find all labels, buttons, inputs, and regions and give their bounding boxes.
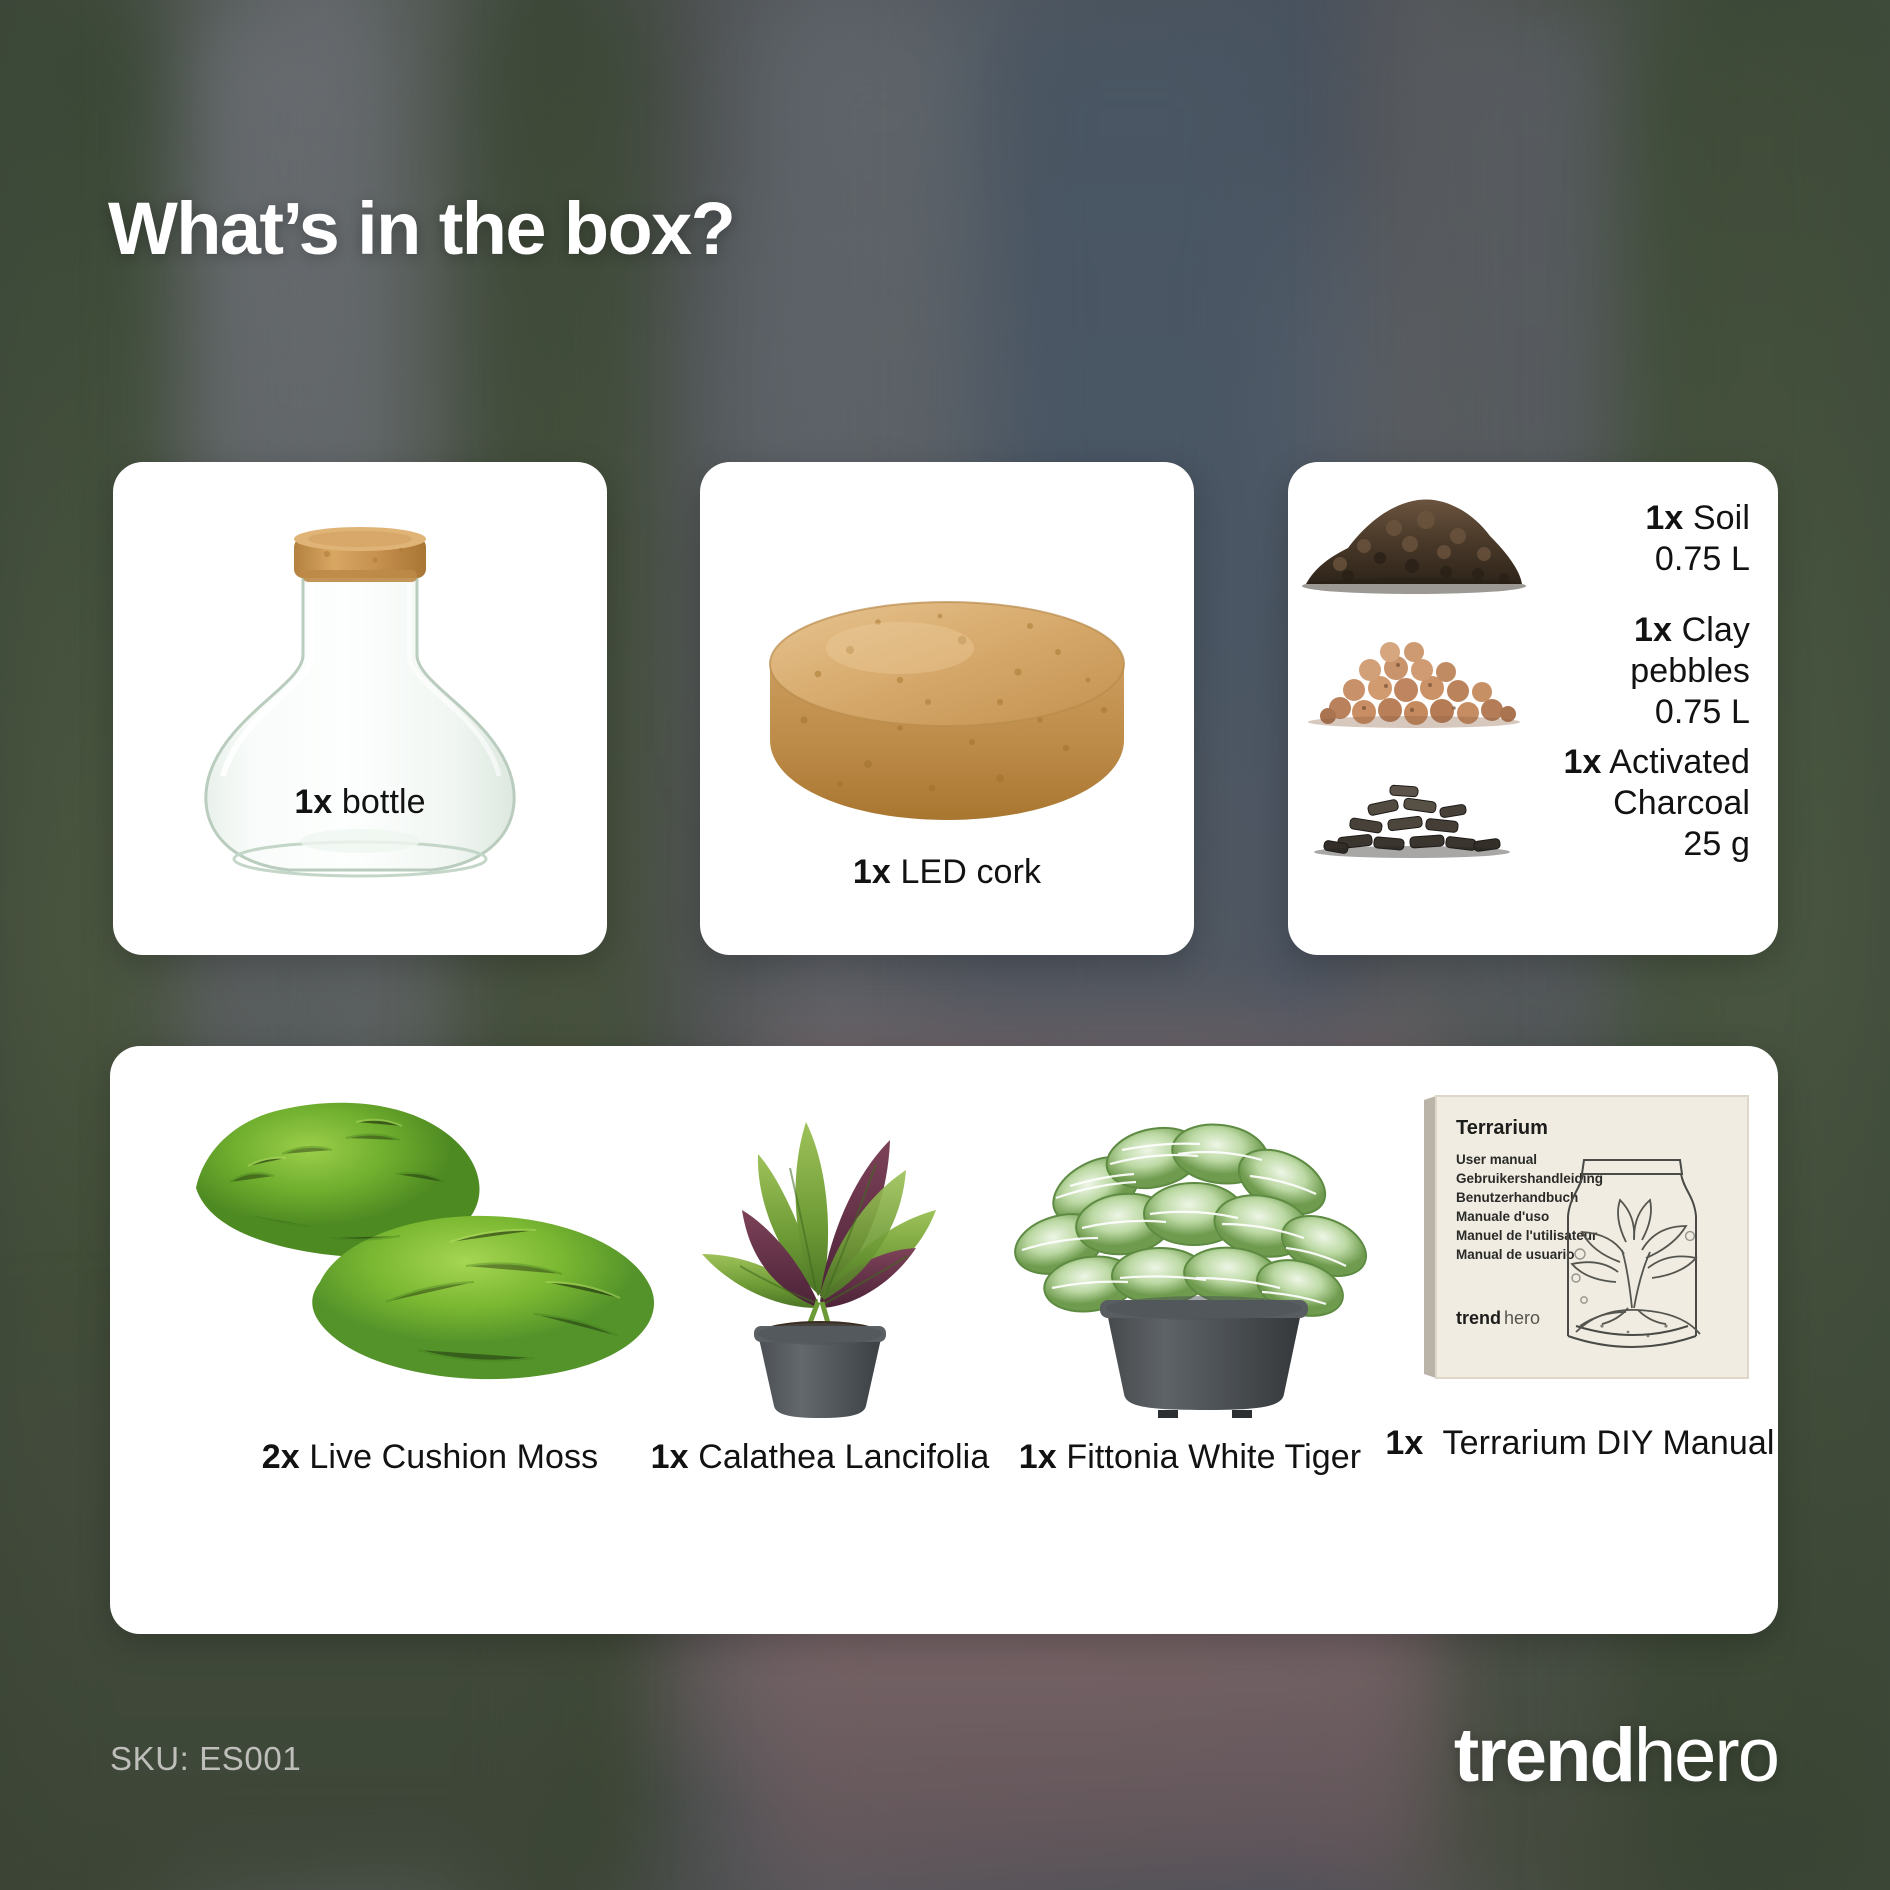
bottle-qty: 1x bbox=[294, 783, 332, 821]
svg-text:hero: hero bbox=[1504, 1308, 1540, 1328]
svg-text:trend: trend bbox=[1456, 1308, 1501, 1328]
bottle-label: bottle bbox=[342, 783, 426, 821]
moss-qty: 2x bbox=[262, 1438, 300, 1476]
soil-pile-image bbox=[1294, 480, 1529, 598]
terrarium-manual-image: Terrarium User manual Gebruikershandleid… bbox=[1380, 1086, 1780, 1386]
fittonia-qty: 1x bbox=[1019, 1438, 1057, 1476]
clay-pebbles-caption: 1x Clay pebbles 0.75 L bbox=[1529, 610, 1778, 732]
page-title: What’s in the box? bbox=[108, 186, 734, 271]
bottle-caption: 1x bottle bbox=[113, 782, 607, 823]
cork-caption: 1x LED cork bbox=[700, 852, 1194, 893]
fittonia-name: Fittonia White Tiger bbox=[1066, 1438, 1361, 1476]
manual-name: Terrarium DIY Manual bbox=[1443, 1424, 1775, 1462]
brand-logo-bold: trend bbox=[1454, 1713, 1634, 1798]
calathea-qty: 1x bbox=[651, 1438, 689, 1476]
media-row-charcoal: 1x Activated Charcoal 25 g bbox=[1288, 742, 1778, 864]
charcoal-name: Activated Charcoal bbox=[1609, 743, 1750, 822]
charcoal-caption: 1x Activated Charcoal 25 g bbox=[1529, 742, 1778, 864]
svg-text:Manuel de l'utilisateur: Manuel de l'utilisateur bbox=[1456, 1228, 1598, 1243]
cork-label: LED cork bbox=[900, 853, 1041, 891]
soil-caption: 1x Soil 0.75 L bbox=[1529, 498, 1778, 580]
plant-cell-manual: Terrarium User manual Gebruikershandleid… bbox=[1380, 1046, 1780, 1634]
card-bottle: 1x bottle bbox=[113, 462, 607, 955]
manual-caption: 1x Terrarium DIY Manual bbox=[1380, 1422, 1780, 1465]
soil-name: Soil bbox=[1693, 499, 1750, 537]
card-led-cork: 1x LED cork bbox=[700, 462, 1194, 955]
sku-label: SKU: ES001 bbox=[110, 1740, 301, 1778]
cork-lid-image bbox=[700, 552, 1194, 852]
moss-name: Live Cushion Moss bbox=[309, 1438, 598, 1476]
media-row-soil: 1x Soil 0.75 L bbox=[1288, 480, 1778, 598]
soil-amount: 0.75 L bbox=[1529, 539, 1750, 580]
svg-text:Manual de usuario: Manual de usuario bbox=[1456, 1247, 1575, 1262]
clay-pebbles-image bbox=[1294, 612, 1529, 730]
cork-qty: 1x bbox=[853, 853, 891, 891]
brand-logo: trendhero bbox=[1454, 1712, 1778, 1799]
pebbles-amount: 0.75 L bbox=[1529, 692, 1750, 733]
activated-charcoal-image bbox=[1294, 744, 1529, 862]
svg-text:Manuale d'uso: Manuale d'uso bbox=[1456, 1209, 1549, 1224]
pebbles-qty: 1x bbox=[1634, 611, 1672, 649]
card-plants-and-manual: 2x Live Cushion Moss bbox=[110, 1046, 1778, 1634]
svg-text:Terrarium: Terrarium bbox=[1456, 1117, 1548, 1139]
charcoal-qty: 1x bbox=[1564, 743, 1602, 781]
svg-text:Benutzerhandbuch: Benutzerhandbuch bbox=[1456, 1190, 1578, 1205]
media-row-clay-pebbles: 1x Clay pebbles 0.75 L bbox=[1288, 610, 1778, 732]
soil-qty: 1x bbox=[1645, 499, 1683, 537]
charcoal-amount: 25 g bbox=[1529, 824, 1750, 865]
brand-logo-light: hero bbox=[1634, 1713, 1778, 1798]
svg-text:User manual: User manual bbox=[1456, 1152, 1537, 1167]
manual-qty: 1x bbox=[1385, 1424, 1423, 1462]
card-growing-media: 1x Soil 0.75 L bbox=[1288, 462, 1778, 955]
